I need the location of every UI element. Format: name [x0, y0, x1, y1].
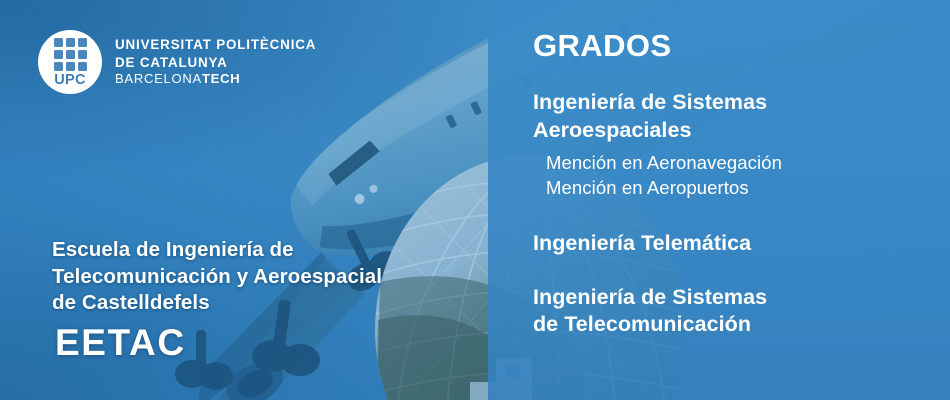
degrees-column: GRADOS Ingeniería de Sistemas Aeroespaci… — [533, 30, 933, 357]
degree-name-line-1: Ingeniería de Sistemas — [533, 284, 933, 312]
upc-dot-grid-icon — [54, 38, 87, 71]
school-name-line-1: Escuela de Ingeniería de — [52, 237, 472, 264]
upc-mark-label: UPC — [54, 73, 86, 88]
degree-name-line-1: Ingeniería Telemática — [533, 230, 933, 258]
degree-mentions: Mención en Aeronavegación Mención en Aer… — [546, 151, 933, 200]
upc-wordmark-line-1: UNIVERSITAT POLITÈCNICA — [115, 36, 316, 53]
upc-wordmark: UNIVERSITAT POLITÈCNICA DE CATALUNYA BAR… — [115, 36, 316, 88]
degree-mention-aeropuertos: Mención en Aeropuertos — [546, 176, 933, 201]
upc-roundel-icon: UPC — [38, 30, 102, 94]
upc-logo[interactable]: UPC UNIVERSITAT POLITÈCNICA DE CATALUNYA… — [38, 30, 316, 94]
school-acronym: EETAC — [55, 324, 472, 361]
tech-text: TECH — [202, 71, 240, 86]
school-name-line-2: Telecomunicación y Aeroespacial — [52, 264, 472, 291]
degree-name-line-1: Ingeniería de Sistemas — [533, 89, 933, 117]
upc-wordmark-line-2: DE CATALUNYA — [115, 54, 316, 71]
eetac-promo-banner: UPC UNIVERSITAT POLITÈCNICA DE CATALUNYA… — [0, 0, 950, 400]
degree-item-aerospace[interactable]: Ingeniería de Sistemas Aeroespaciales Me… — [533, 89, 933, 200]
degree-name-line-2: Aeroespaciales — [533, 117, 933, 145]
degree-mention-aeronavegacion: Mención en Aeronavegación — [546, 151, 933, 176]
degree-item-telematica[interactable]: Ingeniería Telemática — [533, 230, 933, 258]
degree-name-line-2: de Telecomunicación — [533, 311, 933, 339]
degrees-heading: GRADOS — [533, 30, 933, 61]
upc-wordmark-line-3: BARCELONATECH — [115, 71, 316, 88]
school-name-line-3: de Castelldefels — [52, 290, 472, 317]
barcelona-text: BARCELONA — [115, 71, 202, 86]
school-name-block: Escuela de Ingeniería de Telecomunicació… — [52, 237, 472, 361]
degree-item-sistemas-telecom[interactable]: Ingeniería de Sistemas de Telecomunicaci… — [533, 284, 933, 339]
